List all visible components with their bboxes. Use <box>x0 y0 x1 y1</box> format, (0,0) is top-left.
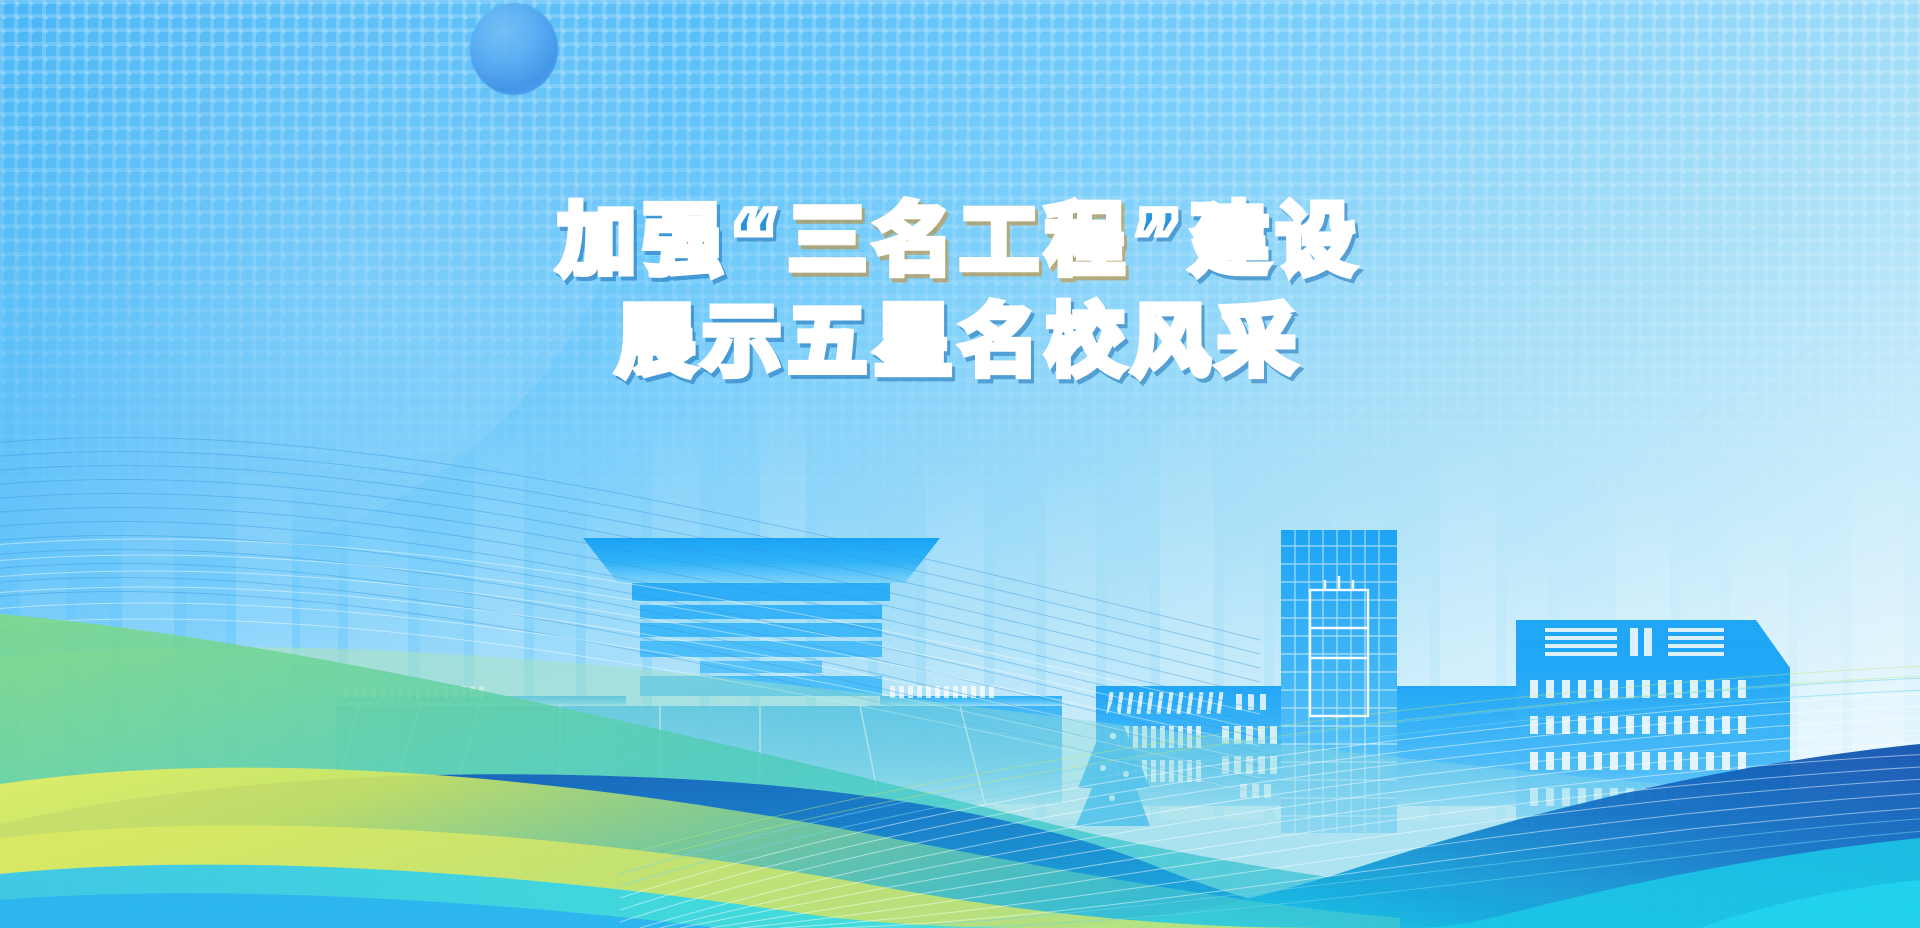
title-line-2: 展示五星名校风采 <box>0 299 1920 386</box>
title-subtitle-segment: 展示五星名校风采 <box>617 299 1303 386</box>
title-quote-close: ” <box>1132 198 1191 285</box>
title-segment-4: 建设 <box>1191 198 1363 285</box>
banner-root: 加强“三名工程”建设 展示五星名校风采 <box>0 0 1920 928</box>
right-line-bundle <box>620 598 1920 928</box>
page-title: 加强“三名工程”建设 展示五星名校风采 <box>0 198 1920 387</box>
title-line-1: 加强“三名工程”建设 <box>0 198 1920 285</box>
title-quote-open: “ <box>729 198 788 285</box>
title-segment-0: 加强 <box>558 198 730 285</box>
title-segment-accent: 三名工程 <box>788 198 1131 285</box>
